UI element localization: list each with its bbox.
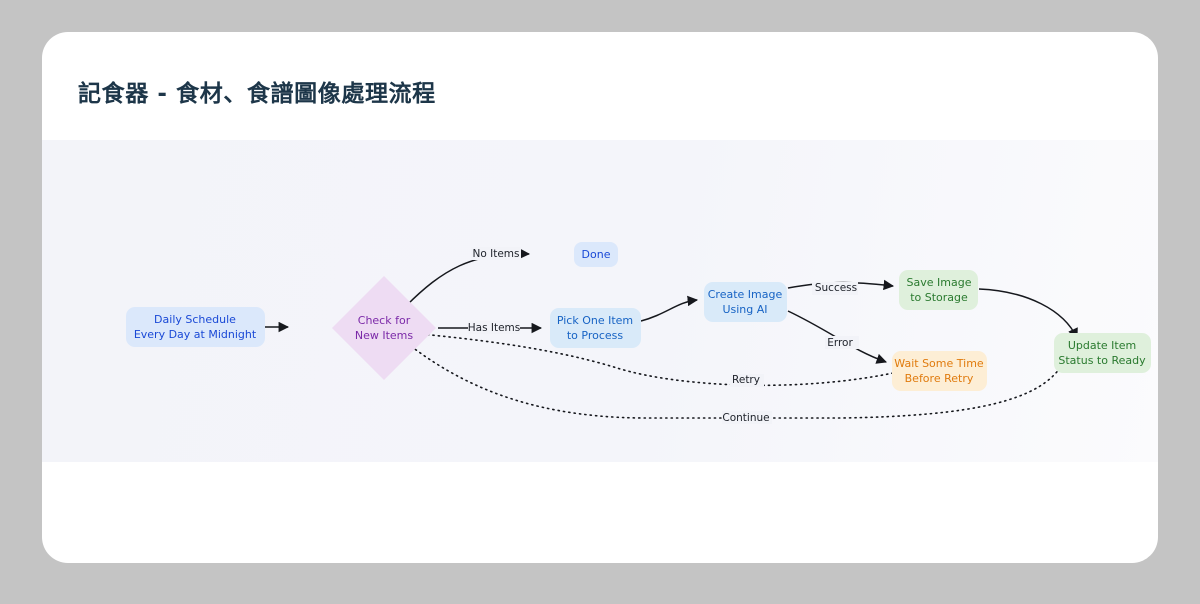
- node-daily-schedule[interactable]: Daily Schedule Every Day at Midnight: [126, 307, 265, 347]
- node-wait-some-time[interactable]: Wait Some Time Before Retry: [892, 351, 987, 391]
- node-label-line1: Save Image: [907, 276, 972, 289]
- edge-save-update: [979, 289, 1077, 338]
- node-done[interactable]: Done: [574, 242, 618, 267]
- node-label-line2: to Process: [567, 329, 624, 342]
- node-label-line1: Pick One Item: [557, 314, 633, 327]
- edge-label-continue: Continue: [722, 412, 769, 424]
- node-label-line2: Every Day at Midnight: [134, 328, 257, 341]
- flowchart-card: 記食器 - 食材、食譜圖像處理流程 No Items: [42, 32, 1158, 563]
- edge-wait-check: Retry: [398, 332, 893, 387]
- edge-label-retry: Retry: [732, 374, 760, 386]
- edge-pick-create: [641, 300, 697, 321]
- edge-label-no-items: No Items: [473, 248, 520, 260]
- edge-check-done: No Items: [406, 247, 529, 306]
- node-label-line2: Status to Ready: [1058, 354, 1146, 367]
- edge-label-error: Error: [827, 337, 853, 349]
- edge-label-has-items: Has Items: [468, 322, 521, 334]
- page-title: 記食器 - 食材、食譜圖像處理流程: [78, 74, 436, 108]
- edge-create-wait: Error: [788, 311, 886, 362]
- node-create-image-using-ai[interactable]: Create Image Using AI: [704, 282, 787, 322]
- edge-label-success: Success: [815, 282, 857, 294]
- node-save-image-to-storage[interactable]: Save Image to Storage: [899, 270, 978, 310]
- node-label-line1: Done: [582, 248, 611, 261]
- flowchart-svg: No Items Has Items Success: [42, 140, 1158, 462]
- node-pick-one-item[interactable]: Pick One Item to Process: [550, 308, 641, 348]
- page-root: 記食器 - 食材、食譜圖像處理流程 No Items: [0, 0, 1200, 604]
- node-label-line2: to Storage: [910, 291, 968, 304]
- node-label-line2: New Items: [355, 329, 414, 342]
- node-label-line1: Update Item: [1068, 339, 1136, 352]
- edge-check-pick: Has Items: [438, 321, 541, 334]
- flowchart-canvas: No Items Has Items Success: [42, 140, 1158, 462]
- node-label-line2: Using AI: [722, 303, 767, 316]
- node-update-item-status[interactable]: Update Item Status to Ready: [1054, 333, 1151, 373]
- node-label-line1: Daily Schedule: [154, 313, 236, 326]
- node-label-line1: Wait Some Time: [894, 357, 984, 370]
- node-label-line1: Check for: [358, 314, 411, 327]
- node-label-line2: Before Retry: [905, 372, 974, 385]
- node-label-line1: Create Image: [708, 288, 783, 301]
- edge-create-save: Success: [788, 282, 893, 295]
